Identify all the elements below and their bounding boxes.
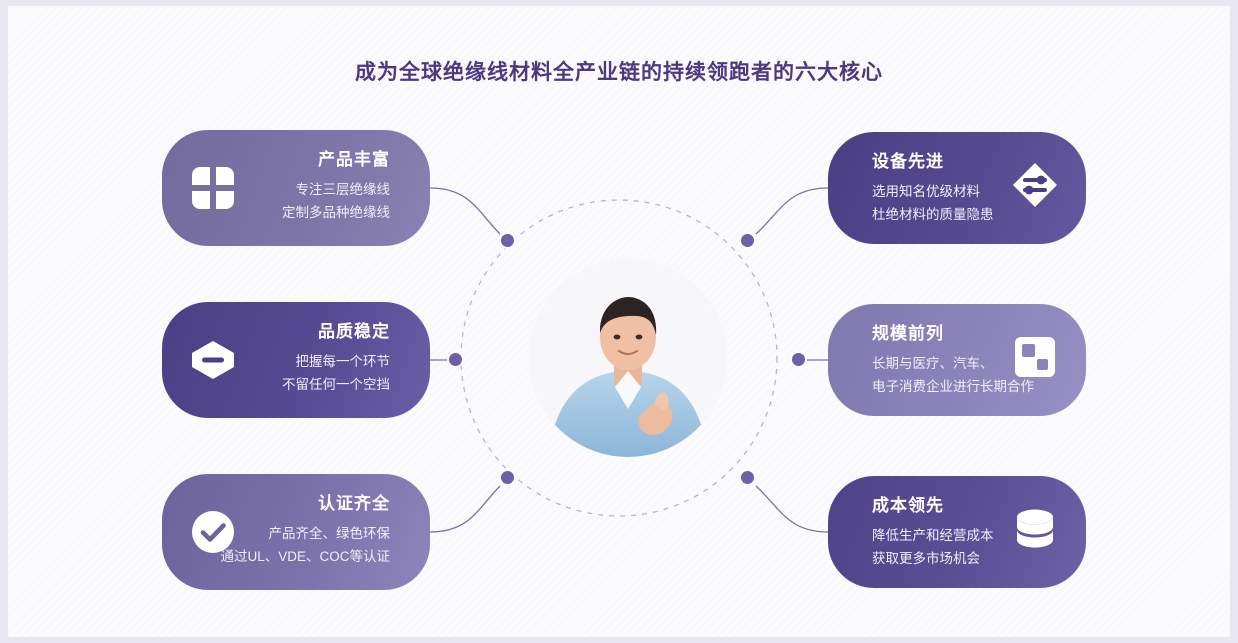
card-text: 规模前列 长期与医疗、汽车、 电子消费企业进行长期合作 xyxy=(872,324,1042,398)
card-title: 成本领先 xyxy=(872,496,1042,516)
card-text: 认证齐全 产品齐全、绿色环保 通过UL、VDE、COC等认证 xyxy=(200,494,390,568)
card-line: 定制多品种绝缘线 xyxy=(200,201,390,224)
card-line: 选用知名优级材料 xyxy=(872,180,1042,203)
card-text: 产品丰富 专注三层绝缘线 定制多品种绝缘线 xyxy=(200,150,390,224)
card-text: 设备先进 选用知名优级材料 杜绝材料的质量隐患 xyxy=(872,152,1042,226)
feature-card-scale-leading[interactable]: 规模前列 长期与医疗、汽车、 电子消费企业进行长期合作 xyxy=(828,304,1086,416)
card-line: 电子消费企业进行长期合作 xyxy=(872,375,1042,398)
infographic-canvas: 成为全球绝缘线材料全产业链的持续领跑者的六大核心 xyxy=(8,6,1230,637)
connector-node xyxy=(447,351,464,368)
feature-card-cost-leading[interactable]: 成本领先 降低生产和经营成本 获取更多市场机会 xyxy=(828,476,1086,588)
card-line: 通过UL、VDE、COC等认证 xyxy=(200,545,390,568)
feature-card-certification[interactable]: 认证齐全 产品齐全、绿色环保 通过UL、VDE、COC等认证 xyxy=(162,474,430,590)
card-line: 杜绝材料的质量隐患 xyxy=(872,203,1042,226)
card-line: 把握每一个环节 xyxy=(200,350,390,373)
feature-card-advanced-equipment[interactable]: 设备先进 选用知名优级材料 杜绝材料的质量隐患 xyxy=(828,132,1086,244)
card-title: 品质稳定 xyxy=(200,322,390,342)
card-text: 品质稳定 把握每一个环节 不留任何一个空挡 xyxy=(200,322,390,396)
feature-card-quality-stable[interactable]: 品质稳定 把握每一个环节 不留任何一个空挡 xyxy=(162,302,430,418)
card-line: 不留任何一个空挡 xyxy=(200,373,390,396)
card-title: 认证齐全 xyxy=(200,494,390,514)
person-photo xyxy=(529,259,727,457)
card-line: 产品齐全、绿色环保 xyxy=(200,522,390,545)
connector-node xyxy=(499,469,516,486)
card-text: 成本领先 降低生产和经营成本 获取更多市场机会 xyxy=(872,496,1042,570)
card-line: 降低生产和经营成本 xyxy=(872,524,1042,547)
card-title: 产品丰富 xyxy=(200,150,390,170)
connector-node xyxy=(790,351,807,368)
card-line: 专注三层绝缘线 xyxy=(200,178,390,201)
card-title: 规模前列 xyxy=(872,324,1042,344)
card-line: 获取更多市场机会 xyxy=(872,547,1042,570)
card-title: 设备先进 xyxy=(872,152,1042,172)
card-line: 长期与医疗、汽车、 xyxy=(872,352,1042,375)
connector-node xyxy=(739,469,756,486)
connector-node xyxy=(739,232,756,249)
connector-node xyxy=(499,232,516,249)
feature-card-product-rich[interactable]: 产品丰富 专注三层绝缘线 定制多品种绝缘线 xyxy=(162,130,430,246)
